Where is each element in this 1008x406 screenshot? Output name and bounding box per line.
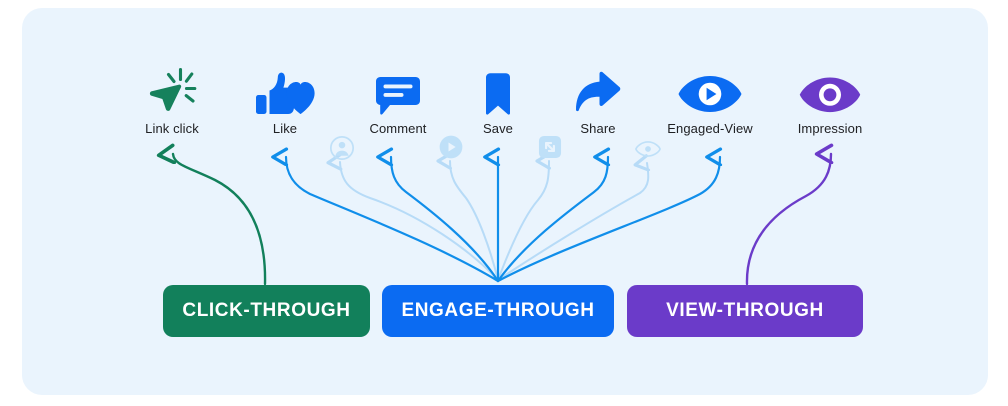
icon-label-share: Share bbox=[543, 121, 653, 136]
icon-label-engaged-view: Engaged-View bbox=[655, 121, 765, 136]
arrow-engage-comment bbox=[391, 157, 498, 281]
icon-node-impression[interactable]: Impression bbox=[775, 58, 885, 136]
icon-label-like: Like bbox=[230, 121, 340, 136]
pill-label-view-through: VIEW-THROUGH bbox=[666, 300, 824, 322]
pill-click-through[interactable]: CLICK-THROUGH bbox=[163, 285, 370, 337]
icon-node-engaged-view[interactable]: Engaged-View bbox=[655, 58, 765, 136]
person-circle-icon bbox=[329, 135, 355, 161]
pill-view-through[interactable]: VIEW-THROUGH bbox=[627, 285, 863, 337]
faded-follow-icon-node bbox=[322, 131, 362, 165]
arrow-engage-like bbox=[286, 157, 498, 281]
icon-label-impression: Impression bbox=[775, 121, 885, 136]
eye-icon bbox=[798, 74, 862, 116]
like-icon-wrap bbox=[230, 58, 340, 116]
icon-node-share[interactable]: Share bbox=[543, 58, 653, 136]
impression-icon-wrap bbox=[775, 58, 885, 116]
arrow-faded-follow bbox=[340, 162, 498, 280]
infographic-stage: Link click Like Comment Save bbox=[0, 0, 1008, 406]
icon-node-comment[interactable]: Comment bbox=[343, 58, 453, 136]
icon-node-link-click[interactable]: Link click bbox=[117, 58, 227, 136]
icon-node-like[interactable]: Like bbox=[230, 58, 340, 136]
pill-engage-through[interactable]: ENGAGE-THROUGH bbox=[382, 285, 614, 337]
icon-label-link-click: Link click bbox=[117, 121, 227, 136]
comment-bubble-icon bbox=[373, 70, 423, 116]
engaged-view-icon-wrap bbox=[655, 58, 765, 116]
share-icon-wrap bbox=[543, 58, 653, 116]
link-click-icon-wrap bbox=[117, 58, 227, 116]
share-arrow-icon bbox=[574, 70, 622, 116]
thumbs-up-heart-icon bbox=[254, 68, 316, 116]
faded-eye-icon-node bbox=[628, 132, 668, 166]
bookmark-icon bbox=[480, 70, 516, 116]
arrow-view-through-impression bbox=[747, 154, 831, 284]
pill-label-engage-through: ENGAGE-THROUGH bbox=[401, 300, 594, 322]
icon-node-save[interactable]: Save bbox=[443, 58, 553, 136]
eye-outline-icon bbox=[635, 139, 661, 159]
arrow-click-through-link-click bbox=[173, 154, 265, 284]
play-circle-icon bbox=[438, 134, 464, 160]
arrow-engage-engaged-view bbox=[498, 157, 720, 281]
arrow-engage-share bbox=[498, 157, 608, 281]
arrow-faded-view bbox=[498, 163, 648, 280]
icon-label-save: Save bbox=[443, 121, 553, 136]
save-icon-wrap bbox=[443, 58, 553, 116]
cursor-click-sparkle-icon bbox=[144, 64, 200, 116]
icon-label-comment: Comment bbox=[343, 121, 453, 136]
pill-label-click-through: CLICK-THROUGH bbox=[182, 300, 350, 322]
eye-play-icon bbox=[677, 72, 743, 116]
comment-icon-wrap bbox=[343, 58, 453, 116]
arrow-faded-play bbox=[450, 161, 498, 280]
expand-fullscreen-icon bbox=[537, 134, 563, 160]
